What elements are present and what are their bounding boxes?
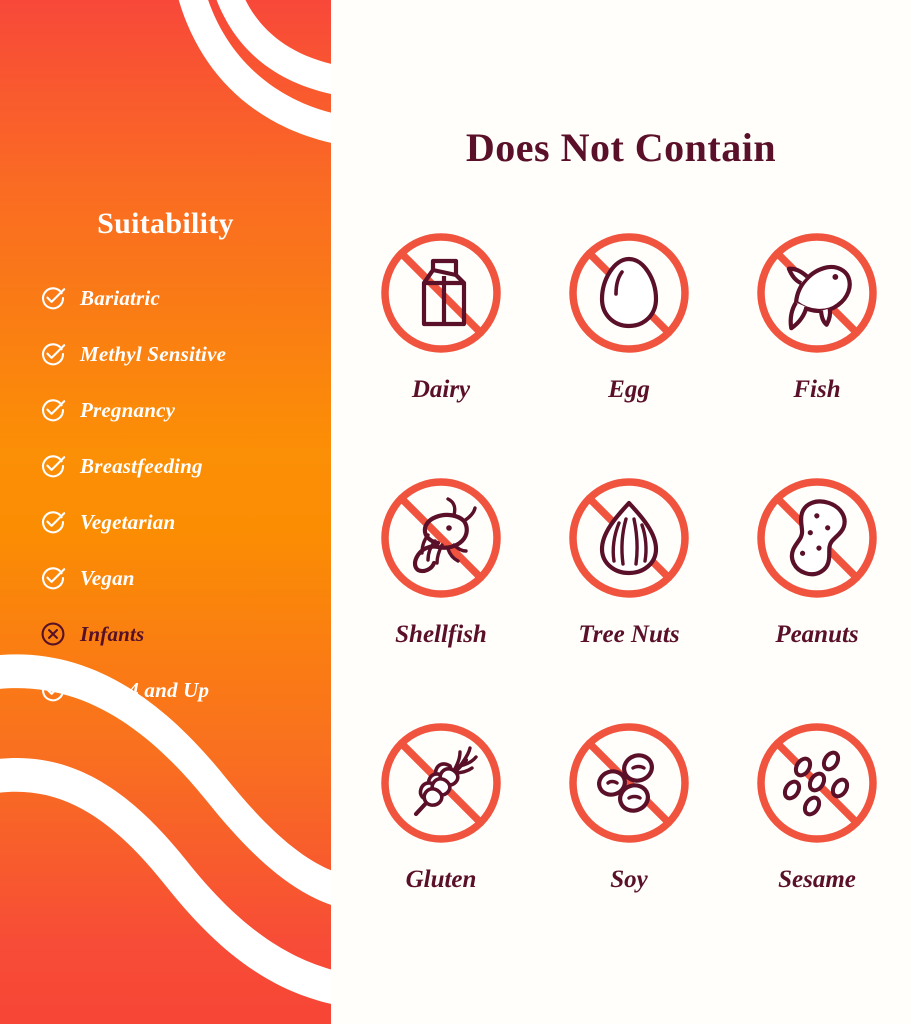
fish-icon <box>752 228 882 358</box>
check-circle-icon <box>40 397 66 423</box>
allergen-cell-soy: Soy <box>535 718 723 963</box>
shrimp-icon <box>376 473 506 603</box>
allergen-grid: Dairy Egg <box>347 228 911 963</box>
suitability-item-label: Pregnancy <box>80 398 175 423</box>
allergen-suitability-panel: Suitability Bariatric Methyl Sensitive <box>0 0 911 1024</box>
sesame-seeds-icon <box>752 718 882 848</box>
allergen-label: Fish <box>793 376 840 404</box>
suitability-item-label: Infants <box>80 622 144 647</box>
check-circle-icon <box>40 565 66 591</box>
check-circle-icon <box>40 677 66 703</box>
check-circle-icon <box>40 341 66 367</box>
suitability-panel: Suitability Bariatric Methyl Sensitive <box>0 0 331 1024</box>
check-circle-icon <box>40 453 66 479</box>
allergen-label: Peanuts <box>775 621 858 649</box>
suitability-item-label: Ages 4 and Up <box>80 678 209 703</box>
check-circle-icon <box>40 509 66 535</box>
suitability-item-infants: Infants <box>40 606 331 662</box>
allergen-cell-dairy: Dairy <box>347 228 535 473</box>
x-circle-icon <box>40 621 66 647</box>
check-circle-icon <box>40 285 66 311</box>
allergen-label: Shellfish <box>395 621 487 649</box>
milk-carton-icon <box>376 228 506 358</box>
soybeans-icon <box>564 718 694 848</box>
suitability-list: Bariatric Methyl Sensitive Pregnancy <box>40 270 331 718</box>
suitability-item-label: Vegan <box>80 566 135 591</box>
suitability-item-ages-4-and-up: Ages 4 and Up <box>40 662 331 718</box>
allergen-label: Soy <box>610 866 648 894</box>
suitability-item-label: Vegetarian <box>80 510 175 535</box>
wheat-icon <box>376 718 506 848</box>
does-not-contain-panel: Does Not Contain Dairy <box>331 0 911 1024</box>
suitability-item-vegan: Vegan <box>40 550 331 606</box>
allergen-cell-tree-nuts: Tree Nuts <box>535 473 723 718</box>
allergen-label: Gluten <box>406 866 477 894</box>
almond-icon <box>564 473 694 603</box>
allergen-label: Tree Nuts <box>578 621 679 649</box>
peanut-icon <box>752 473 882 603</box>
allergen-label: Egg <box>608 376 650 404</box>
suitability-item-breastfeeding: Breastfeeding <box>40 438 331 494</box>
egg-icon <box>564 228 694 358</box>
allergen-label: Dairy <box>412 376 470 404</box>
suitability-item-label: Bariatric <box>80 286 160 311</box>
allergen-cell-egg: Egg <box>535 228 723 473</box>
sidebar-content: Suitability Bariatric Methyl Sensitive <box>0 0 331 1024</box>
allergen-cell-gluten: Gluten <box>347 718 535 963</box>
does-not-contain-heading: Does Not Contain <box>331 124 911 171</box>
allergen-cell-shellfish: Shellfish <box>347 473 535 718</box>
allergen-cell-peanuts: Peanuts <box>723 473 911 718</box>
suitability-item-pregnancy: Pregnancy <box>40 382 331 438</box>
suitability-heading: Suitability <box>0 207 331 241</box>
suitability-item-bariatric: Bariatric <box>40 270 331 326</box>
allergen-label: Sesame <box>778 866 856 894</box>
suitability-item-vegetarian: Vegetarian <box>40 494 331 550</box>
allergen-cell-fish: Fish <box>723 228 911 473</box>
suitability-item-label: Methyl Sensitive <box>80 342 226 367</box>
suitability-item-methyl-sensitive: Methyl Sensitive <box>40 326 331 382</box>
allergen-cell-sesame: Sesame <box>723 718 911 963</box>
suitability-item-label: Breastfeeding <box>80 454 203 479</box>
